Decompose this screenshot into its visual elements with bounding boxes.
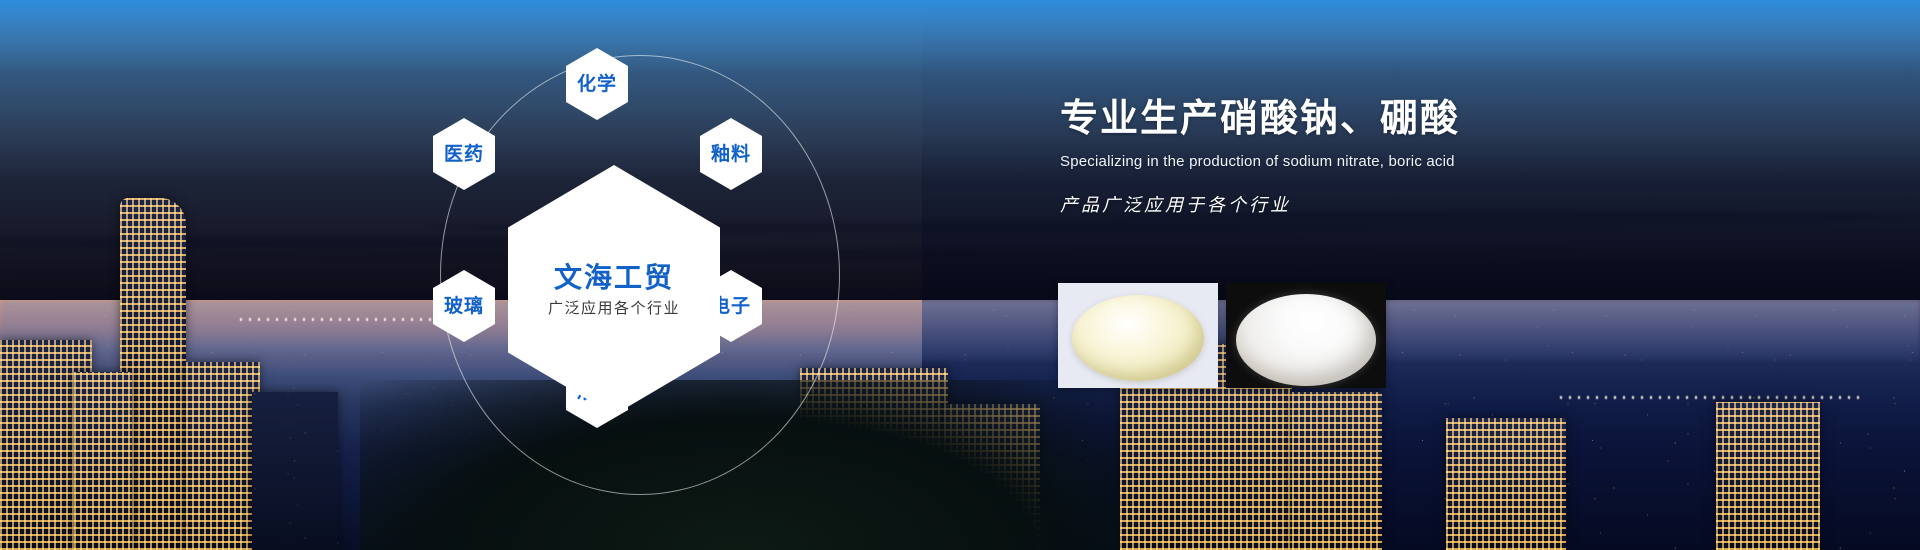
industry-hex-diagram: 化学 釉料 电子 冶金 玻璃 医药 文海工贸 广泛应用各个行业 bbox=[400, 0, 880, 550]
company-tagline: 广泛应用各个行业 bbox=[548, 301, 680, 316]
hex-node-label: 釉料 bbox=[711, 145, 751, 164]
promo-banner: 化学 釉料 电子 冶金 玻璃 医药 文海工贸 广泛应用各个行业 专业生产硝酸钠、… bbox=[0, 0, 1920, 550]
hex-node-label: 化学 bbox=[577, 75, 617, 94]
tagline-cn: 产品广泛应用于各个行业 bbox=[1060, 191, 1620, 217]
hex-node-label: 玻璃 bbox=[444, 297, 484, 316]
product-photo-boric-acid[interactable] bbox=[1226, 283, 1386, 388]
headline-block: 专业生产硝酸钠、硼酸 Specializing in the productio… bbox=[1060, 98, 1620, 217]
powder-pile bbox=[1072, 295, 1204, 381]
product-photo-sodium-nitrate[interactable] bbox=[1058, 283, 1218, 388]
distant-city-lights bbox=[0, 292, 1920, 362]
headline-en: Specializing in the production of sodium… bbox=[1060, 153, 1620, 170]
headline-cn: 专业生产硝酸钠、硼酸 bbox=[1060, 98, 1620, 142]
foreground-city-lights bbox=[1040, 380, 1920, 550]
city-silhouette-band bbox=[0, 0, 1920, 300]
hex-node-label: 医药 bbox=[444, 145, 484, 164]
powder-pile bbox=[1236, 294, 1376, 386]
company-name: 文海工贸 bbox=[554, 264, 674, 292]
product-photo-strip bbox=[1058, 283, 1386, 388]
